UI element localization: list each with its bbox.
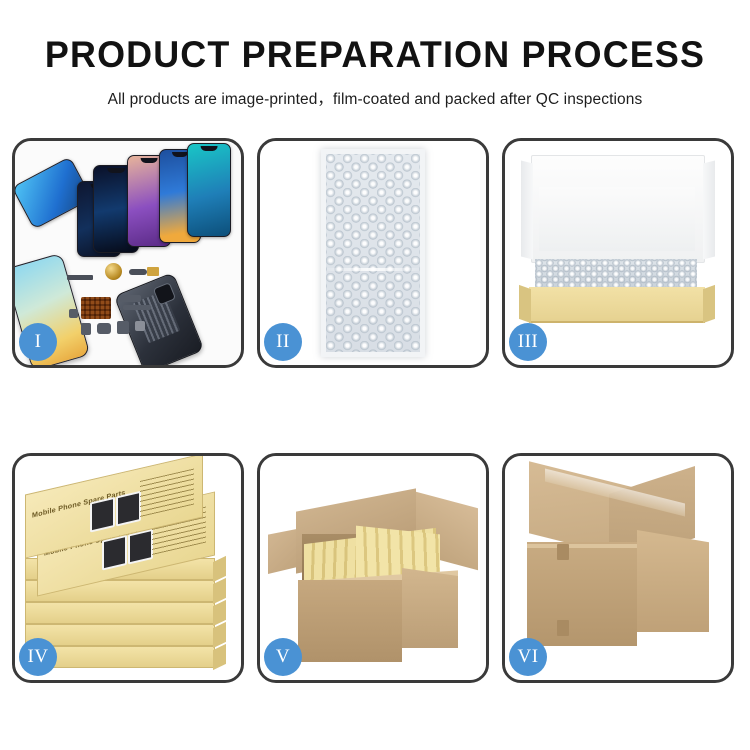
bubble-wrapped-contents [535, 259, 697, 289]
phone-graphic-icon [128, 529, 153, 565]
foam-insert [539, 187, 695, 251]
step-badge-3: III [509, 323, 547, 361]
notch-icon [107, 168, 125, 173]
stacked-box [25, 602, 215, 624]
notch-icon [201, 146, 218, 151]
product-preparation-infographic: PRODUCT PREPARATION PROCESS All products… [0, 0, 750, 750]
bracket-part-icon [135, 321, 145, 331]
stacked-box [25, 624, 215, 646]
spare-parts-group [67, 261, 187, 361]
phone-teal-icon [187, 143, 231, 237]
wrap-seam [327, 268, 419, 271]
page-subtitle: All products are image-printed，film-coat… [0, 87, 750, 109]
connector-icon [119, 295, 141, 302]
carton-side-face [402, 568, 458, 648]
camera-part-icon [117, 321, 129, 334]
bubble-pattern [326, 154, 420, 352]
gold-contact-icon [147, 267, 159, 276]
bubble-wrap-package [321, 149, 425, 357]
step-badge-4: IV [19, 638, 57, 676]
phone-graphic-icon [102, 535, 127, 571]
step-panel-2: II [257, 138, 489, 368]
speaker-part-icon [97, 323, 111, 334]
box-stack: Mobile Phone Spare Parts Mobile Phone Sp… [25, 476, 231, 666]
phone-graphic-icon [116, 491, 141, 527]
step-panel-5: V [257, 453, 489, 683]
button-part-icon [129, 269, 147, 275]
step-badge-1: I [19, 323, 57, 361]
step-panel-1: I [12, 138, 244, 368]
carton-edge-seam [527, 544, 637, 548]
carton-front-face [527, 542, 637, 646]
carton-handle-notch [557, 620, 569, 636]
box-side [213, 644, 226, 670]
small-part-icon [69, 309, 78, 318]
coil-part-icon [105, 263, 122, 280]
process-steps-grid: I II III [12, 138, 738, 683]
step-panel-4: Mobile Phone Spare Parts Mobile Phone Sp… [12, 453, 244, 683]
step-badge-5: V [264, 638, 302, 676]
step-panel-3: III [502, 138, 734, 368]
header: PRODUCT PREPARATION PROCESS All products… [0, 0, 750, 109]
carton-handle-notch [557, 544, 569, 560]
spec-text-lines [140, 469, 194, 517]
ribbon-cable-icon [123, 305, 151, 310]
carton-front-face [298, 580, 402, 662]
yellow-box-tray [529, 287, 705, 323]
step-badge-6: VI [509, 638, 547, 676]
carton-side-face [637, 530, 709, 632]
phone-graphic-icon [90, 497, 115, 533]
notch-icon [172, 152, 188, 157]
notch-icon [141, 158, 158, 163]
chip-grid-icon [81, 297, 111, 319]
page-title: PRODUCT PREPARATION PROCESS [11, 36, 739, 75]
step-panel-6: VI [502, 453, 734, 683]
flex-cable-icon [67, 275, 93, 280]
screw-part-icon [81, 323, 91, 335]
step-badge-2: II [264, 323, 302, 361]
